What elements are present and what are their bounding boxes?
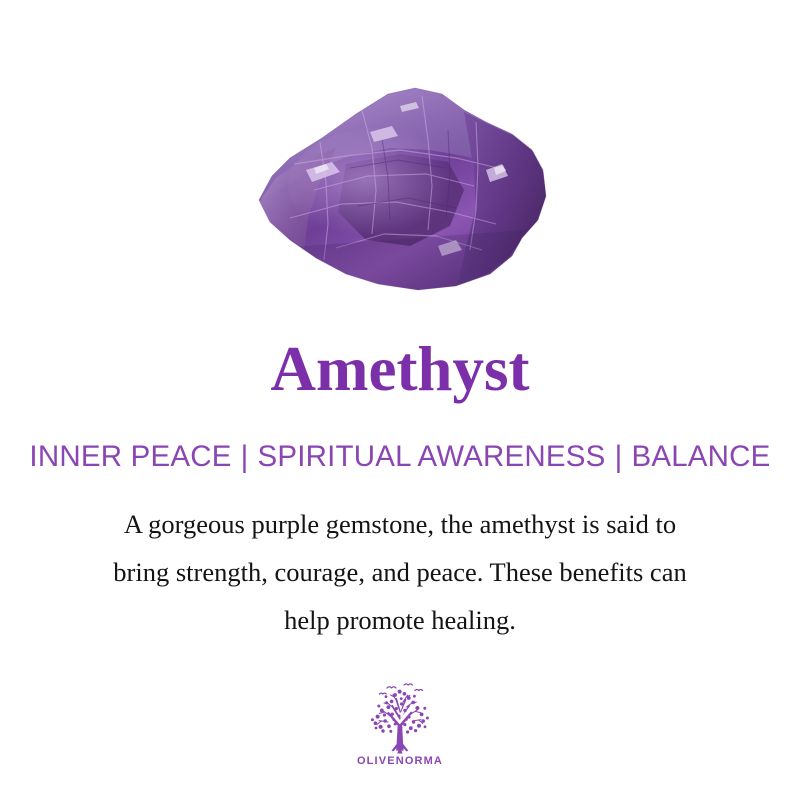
keyword-spiritual-awareness: SPIRITUAL AWARENESS	[258, 441, 606, 473]
keyword-separator: |	[606, 440, 632, 474]
description-line-2: bring strength, courage, and peace. Thes…	[50, 548, 750, 596]
keyword-balance: BALANCE	[631, 441, 770, 473]
description-line-3: help promote healing.	[50, 596, 750, 644]
description-text: A gorgeous purple gemstone, the amethyst…	[50, 500, 750, 644]
amethyst-crystal-icon	[250, 78, 552, 296]
brand-logo: OLIVENORMA	[0, 680, 800, 767]
amethyst-product-card: Amethyst INNER PEACE|SPIRITUAL AWARENESS…	[0, 0, 800, 800]
brand-name: OLIVENORMA	[357, 755, 443, 767]
keyword-list: INNER PEACE|SPIRITUAL AWARENESS|BALANCE	[0, 441, 800, 473]
tree-logo-icon	[357, 680, 443, 754]
amethyst-gemstone-image	[250, 78, 552, 296]
keyword-separator: |	[232, 440, 258, 474]
description-line-1: A gorgeous purple gemstone, the amethyst…	[50, 500, 750, 548]
keyword-inner-peace: INNER PEACE	[29, 441, 231, 473]
page-title: Amethyst	[0, 337, 800, 401]
